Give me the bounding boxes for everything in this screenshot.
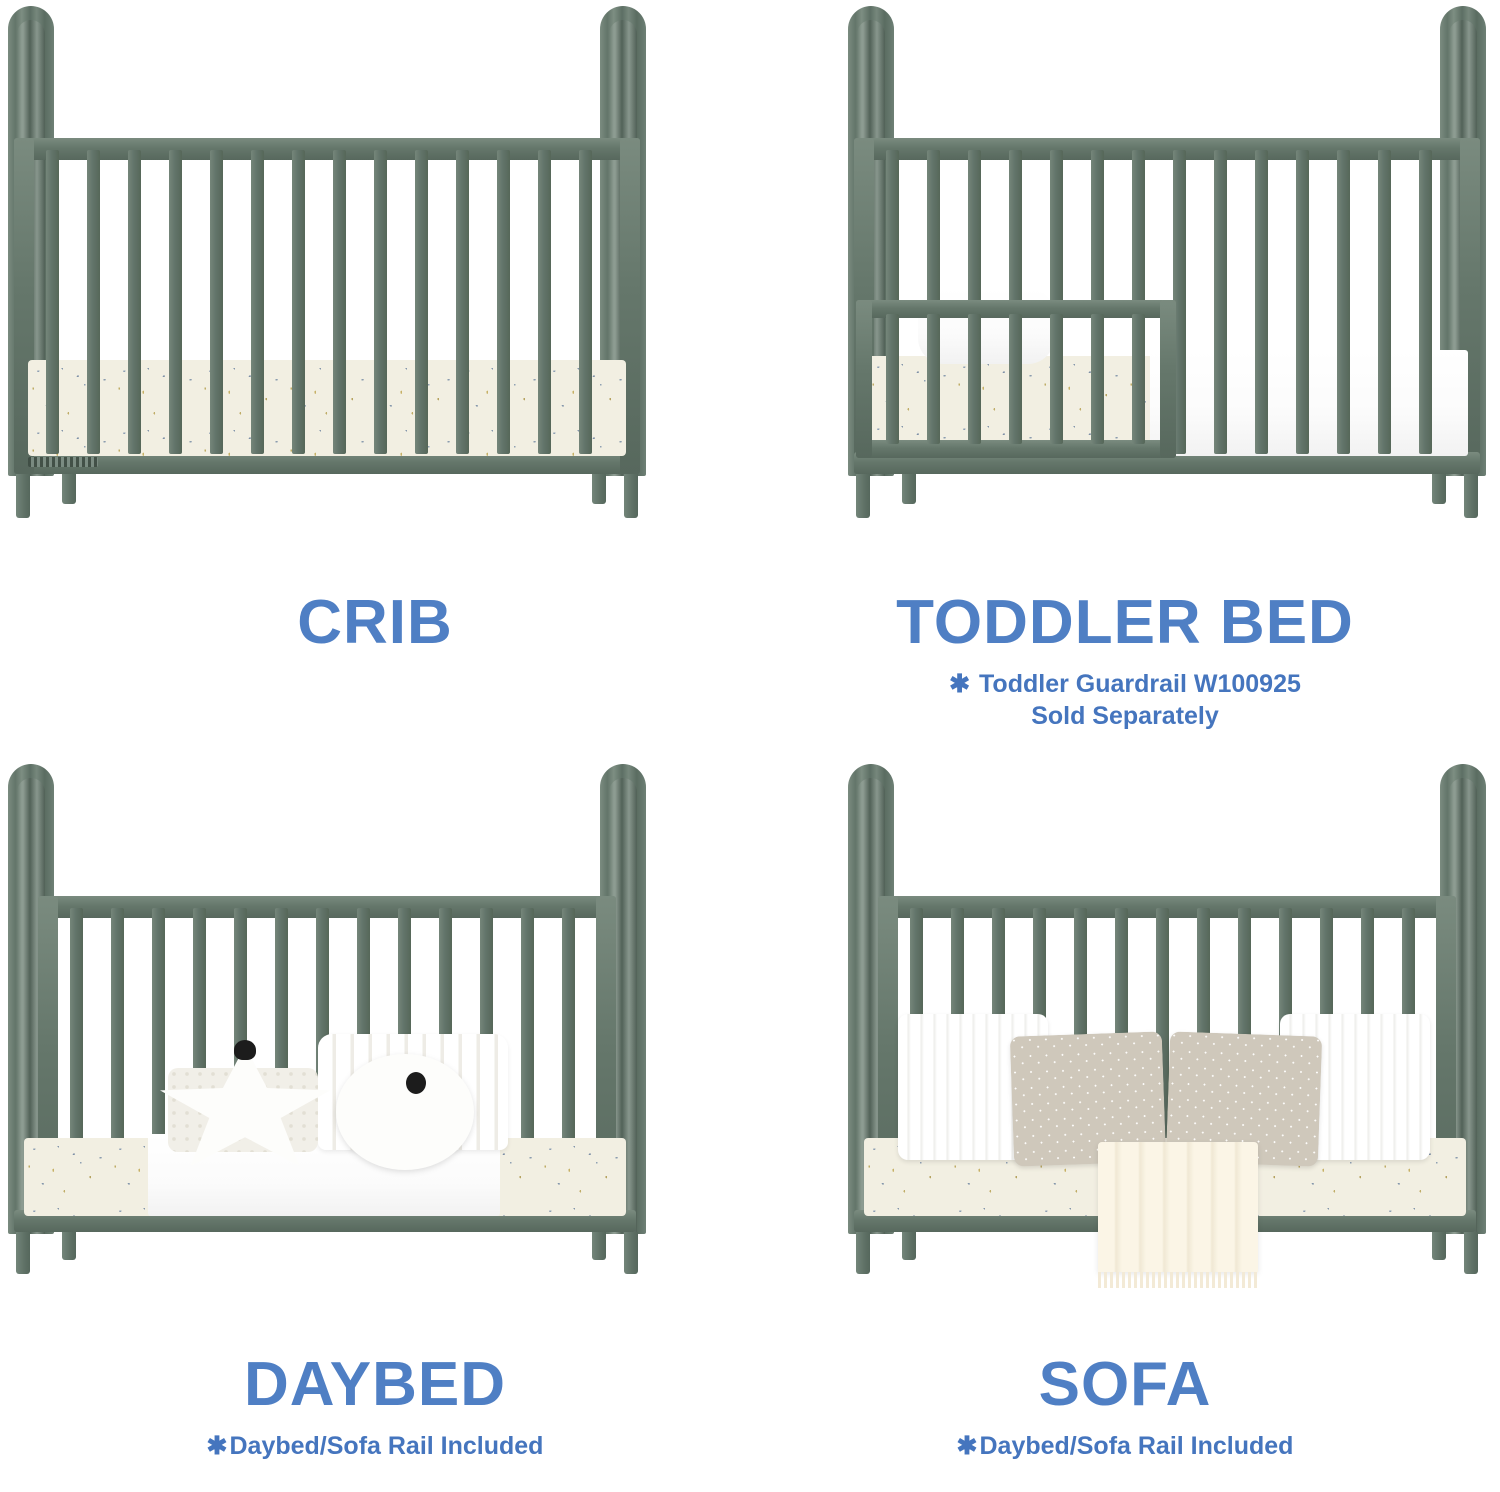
- bird-pillow-eye-dot: [406, 1072, 426, 1094]
- crib-leg-right: [624, 474, 638, 518]
- crib-slat: [292, 150, 305, 454]
- crib-slat: [128, 150, 141, 454]
- panel-title-toddler-bed: TODDLER BED: [750, 592, 1500, 654]
- crib-slat: [538, 150, 551, 454]
- panel-daybed: DAYBED ✱Daybed/Sofa Rail Included: [0, 746, 750, 1492]
- star-pillow-tip-dot: [234, 1040, 256, 1060]
- panel-sofa: SOFA ✱Daybed/Sofa Rail Included: [750, 746, 1500, 1492]
- daybed-illustration: [0, 746, 750, 1306]
- crib-slat: [333, 150, 346, 454]
- crib-slat: [456, 150, 469, 454]
- sofa-throw-fringe: [1098, 1272, 1258, 1288]
- toddler-leg-inner-right: [1432, 474, 1446, 504]
- guardrail-slat: [1009, 314, 1022, 444]
- sofa-leg-inner-right: [1432, 1232, 1446, 1260]
- sofa-leg-right: [1464, 1232, 1478, 1274]
- star-pillow: [160, 1046, 330, 1166]
- sofa-leg-inner-left: [902, 1232, 916, 1260]
- crib-slat: [579, 150, 592, 454]
- crib-leg-inner-right: [592, 474, 606, 504]
- crib-slat: [169, 150, 182, 454]
- crib-slat: [46, 150, 59, 454]
- toddler-bed-note: ✱ Toddler Guardrail W100925 Sold Separat…: [750, 668, 1500, 732]
- guardrail-slat: [1132, 314, 1145, 444]
- toddler-guardrail: [856, 300, 1176, 460]
- asterisk-icon: ✱: [207, 1432, 230, 1460]
- toddler-bed-illustration: [750, 0, 1500, 560]
- toddler-leg-left: [856, 474, 870, 518]
- guardrail-stile-right: [1160, 300, 1176, 458]
- panel-crib: CRIB: [0, 0, 750, 746]
- crib-leg-inner-left: [62, 474, 76, 504]
- asterisk-icon: ✱: [949, 670, 972, 698]
- guardrail-slat: [886, 314, 899, 444]
- sofa-note-line1: Daybed/Sofa Rail Included: [980, 1432, 1294, 1460]
- crib-slat: [210, 150, 223, 454]
- daybed-note-line1: Daybed/Sofa Rail Included: [230, 1432, 544, 1460]
- daybed-leg-right: [624, 1232, 638, 1274]
- toddler-slat: [1419, 150, 1432, 454]
- crib-mattress: [28, 360, 626, 456]
- crib-leg-left: [16, 474, 30, 518]
- panel-title-crib: CRIB: [0, 592, 750, 654]
- crib-slat: [251, 150, 264, 454]
- product-configuration-image: CRIB: [0, 0, 1500, 1492]
- toddler-slat: [1255, 150, 1268, 454]
- guardrail-slat: [1091, 314, 1104, 444]
- crib-slat: [374, 150, 387, 454]
- daybed-leg-inner-right: [592, 1232, 606, 1260]
- crib-slat: [415, 150, 428, 454]
- sofa-leg-left: [856, 1232, 870, 1274]
- daybed-note: ✱Daybed/Sofa Rail Included: [0, 1430, 750, 1462]
- panel-toddler-bed: TODDLER BED ✱ Toddler Guardrail W100925 …: [750, 0, 1500, 746]
- guardrail-stile-left: [856, 300, 872, 458]
- toddler-note-line1: Toddler Guardrail W100925: [979, 670, 1301, 698]
- toddler-slat: [1337, 150, 1350, 454]
- crib-illustration: [0, 0, 750, 560]
- panel-title-sofa: SOFA: [750, 1354, 1500, 1416]
- toddler-slat: [1214, 150, 1227, 454]
- toddler-slat: [1296, 150, 1309, 454]
- guardrail-slat: [968, 314, 981, 444]
- toddler-label-block: TODDLER BED ✱ Toddler Guardrail W100925 …: [750, 592, 1500, 732]
- bird-moon-pillow: [336, 1054, 474, 1170]
- sofa-illustration: [750, 746, 1500, 1306]
- brand-logo-plate: [28, 457, 98, 467]
- sofa-note: ✱Daybed/Sofa Rail Included: [750, 1430, 1500, 1462]
- sofa-label-block: SOFA ✱Daybed/Sofa Rail Included: [750, 1354, 1500, 1462]
- daybed-label-block: DAYBED ✱Daybed/Sofa Rail Included: [0, 1354, 750, 1462]
- daybed-leg-left: [16, 1232, 30, 1274]
- guardrail-slat: [927, 314, 940, 444]
- daybed-leg-inner-left: [62, 1232, 76, 1260]
- panel-title-daybed: DAYBED: [0, 1354, 750, 1416]
- crib-slat: [87, 150, 100, 454]
- asterisk-icon: ✱: [957, 1432, 980, 1460]
- toddler-leg-inner-left: [902, 474, 916, 504]
- crib-label-block: CRIB: [0, 592, 750, 654]
- toddler-note-line2: Sold Separately: [1031, 702, 1219, 730]
- sofa-throw-blanket: [1098, 1142, 1258, 1272]
- guardrail-slat: [1050, 314, 1063, 444]
- toddler-leg-right: [1464, 474, 1478, 518]
- crib-slat: [497, 150, 510, 454]
- toddler-slat: [1378, 150, 1391, 454]
